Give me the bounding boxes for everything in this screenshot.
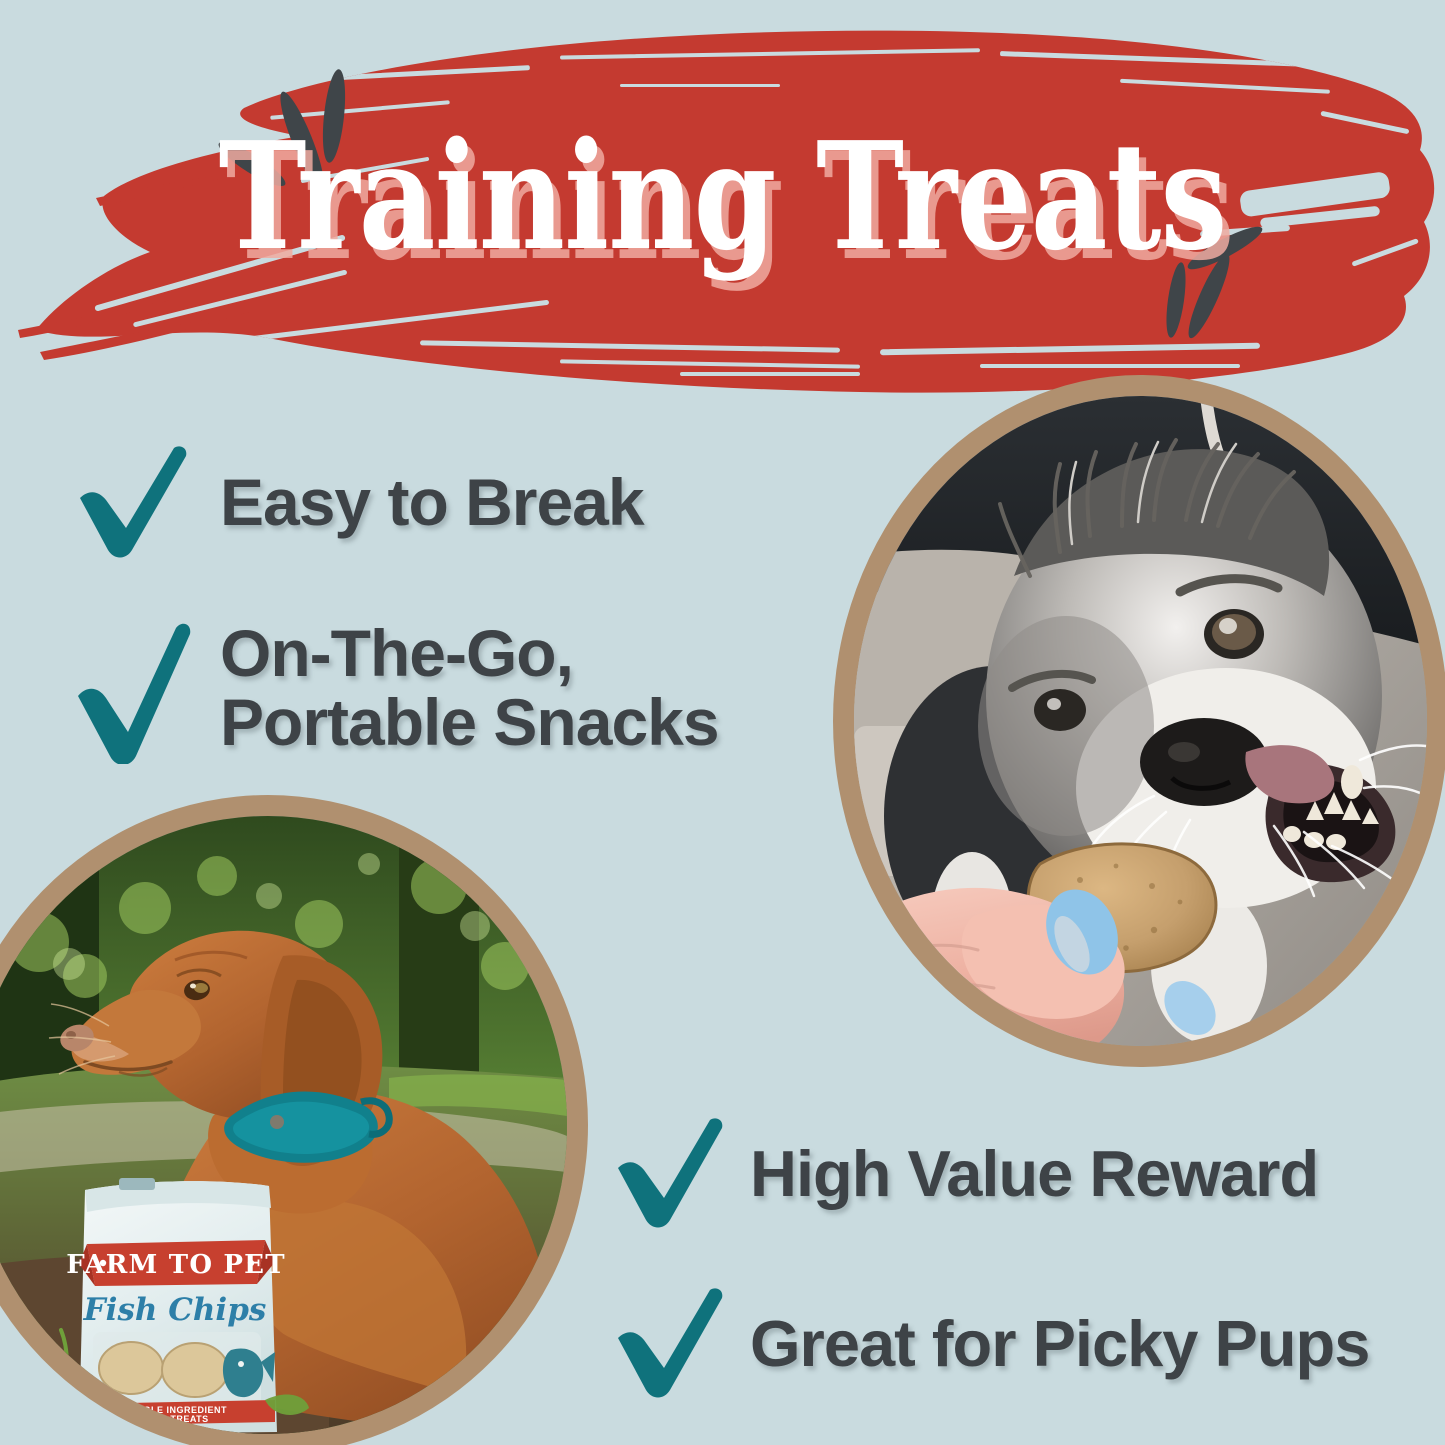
poster-canvas: Training Treats <box>0 0 1445 1445</box>
checkmark-icon <box>74 446 192 558</box>
feature-high-value-reward: High Value Reward <box>612 1118 1318 1230</box>
feature-great-for-picky-pups: Great for Picky Pups <box>612 1288 1369 1400</box>
feature-on-the-go: On-The-Go, Portable Snacks <box>74 612 719 764</box>
photo-dog-vizsla: FARM TO PET Fish Chips SINGLE <box>0 795 588 1445</box>
page-title: Training Treats <box>145 122 1301 270</box>
checkmark-icon <box>74 612 196 764</box>
feature-easy-to-break: Easy to Break <box>74 446 644 558</box>
checkmark-icon <box>612 1288 728 1400</box>
bag-product-name-text: Fish Chips <box>83 1292 267 1328</box>
title-banner: Training Treats <box>0 0 1445 400</box>
product-bag: FARM TO PET Fish Chips SINGLE <box>66 1178 286 1434</box>
feature-label: Great for Picky Pups <box>750 1310 1369 1378</box>
feature-label: On-The-Go, Portable Snacks <box>220 619 719 756</box>
photo-dog-terrier <box>833 375 1445 1067</box>
checkmark-icon <box>612 1118 728 1230</box>
photo-dog-vizsla-image: FARM TO PET Fish Chips SINGLE <box>0 816 567 1434</box>
photo-dog-terrier-image <box>854 396 1427 1046</box>
feature-label: High Value Reward <box>750 1140 1318 1208</box>
feature-label: Easy to Break <box>220 468 644 537</box>
bag-brand-banner: FARM TO PET <box>66 1240 286 1286</box>
